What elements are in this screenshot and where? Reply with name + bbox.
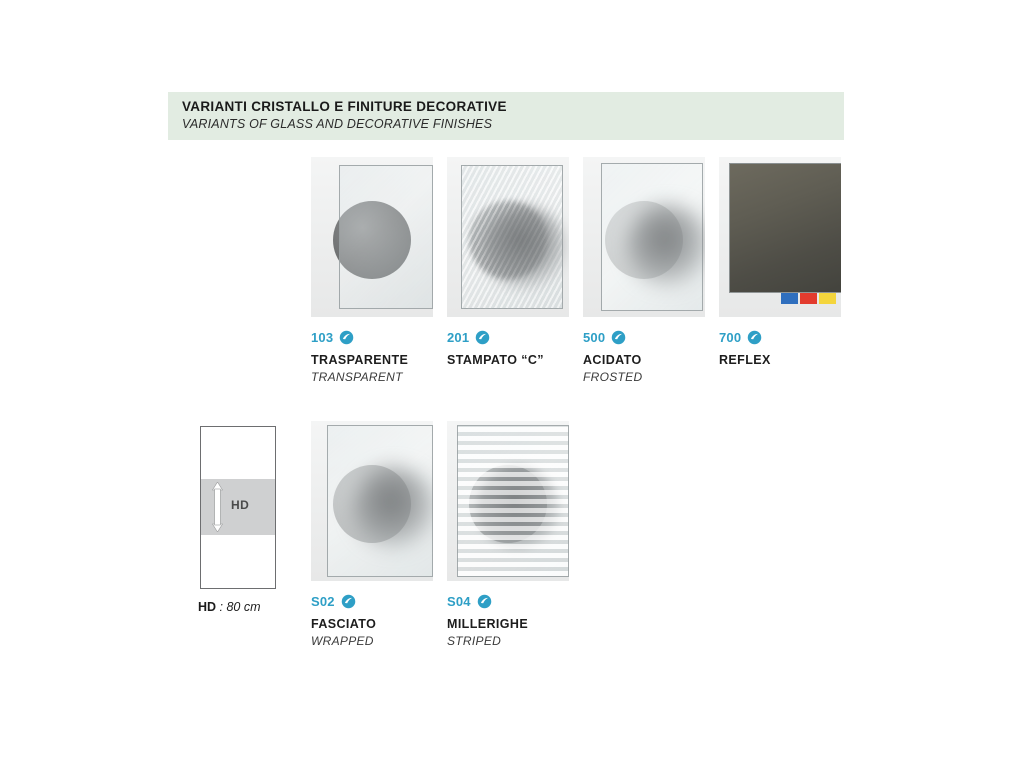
sample-card-s02[interactable]: S02 FASCIATO WRAPPED: [311, 421, 433, 648]
sample-code-label: S04: [447, 594, 471, 609]
sample-name-italian: MILLERIGHE: [447, 617, 569, 631]
swatch-icon: [611, 330, 626, 345]
sample-card-201[interactable]: 201 STAMPATO “C”: [447, 157, 569, 370]
swatch-icon: [339, 330, 354, 345]
swatch-icon: [747, 330, 762, 345]
hd-caption: HD : 80 cm: [198, 600, 261, 614]
glass-pane-acidato: [601, 163, 703, 311]
sample-card-700[interactable]: 700 REFLEX: [719, 157, 841, 370]
glass-pane-reflex: [729, 163, 841, 293]
sample-code-label: 103: [311, 330, 333, 345]
sample-code-row-103: 103: [311, 329, 433, 345]
sample-code-row-s02: S02: [311, 593, 433, 609]
sample-image-103: [311, 157, 433, 317]
hd-caption-value: 80 cm: [226, 600, 260, 614]
swatch-icon: [477, 594, 492, 609]
sample-name-english: TRANSPARENT: [311, 370, 433, 384]
sample-image-s04: [447, 421, 569, 581]
sample-image-500: [583, 157, 705, 317]
sample-code-row-500: 500: [583, 329, 705, 345]
sample-code-label: S02: [311, 594, 335, 609]
sample-card-s04[interactable]: S04 MILLERIGHE STRIPED: [447, 421, 569, 648]
sample-card-103[interactable]: 103 TRASPARENTE TRANSPARENT: [311, 157, 433, 384]
refracted-sphere: [352, 466, 433, 550]
glass-pane-millerighe: [457, 425, 569, 577]
sample-image-201: [447, 157, 569, 317]
hd-caption-separator: :: [216, 600, 226, 614]
sample-image-s02: [311, 421, 433, 581]
glass-pane-fasciato: [327, 425, 433, 577]
sample-code-label: 700: [719, 330, 741, 345]
page-title-italian: VARIANTI CRISTALLO E FINITURE DECORATIVE: [182, 99, 507, 114]
hd-double-arrow-icon: [212, 482, 223, 532]
page-title-english: VARIANTS OF GLASS AND DECORATIVE FINISHE…: [182, 117, 492, 131]
sample-name-italian: FASCIATO: [311, 617, 433, 631]
refracted-sphere: [482, 206, 566, 290]
section-header-band: VARIANTI CRISTALLO E FINITURE DECORATIVE…: [168, 92, 844, 140]
hd-caption-key: HD: [198, 600, 216, 614]
sample-code-row-s04: S04: [447, 593, 569, 609]
sample-name-italian: TRASPARENTE: [311, 353, 433, 367]
swatch-icon: [341, 594, 356, 609]
glass-pane-transparent: [339, 165, 433, 309]
sample-name-english: STRIPED: [447, 634, 569, 648]
swatch-icon: [475, 330, 490, 345]
hd-band-label: HD: [231, 498, 249, 512]
stripe-pattern: [458, 426, 568, 576]
sample-name-english: FROSTED: [583, 370, 705, 384]
hd-dimension-diagram: HD: [200, 426, 276, 589]
refracted-sphere: [626, 204, 705, 288]
sample-name-italian: ACIDATO: [583, 353, 705, 367]
sample-image-700: [719, 157, 841, 317]
sample-code-row-700: 700: [719, 329, 841, 345]
sample-name-italian: REFLEX: [719, 353, 841, 367]
glass-pane-stampato-c: [461, 165, 563, 309]
sample-code-label: 500: [583, 330, 605, 345]
sample-card-500[interactable]: 500 ACIDATO FROSTED: [583, 157, 705, 384]
sample-name-italian: STAMPATO “C”: [447, 353, 569, 367]
sample-code-label: 201: [447, 330, 469, 345]
sample-name-english: WRAPPED: [311, 634, 433, 648]
sample-code-row-201: 201: [447, 329, 569, 345]
